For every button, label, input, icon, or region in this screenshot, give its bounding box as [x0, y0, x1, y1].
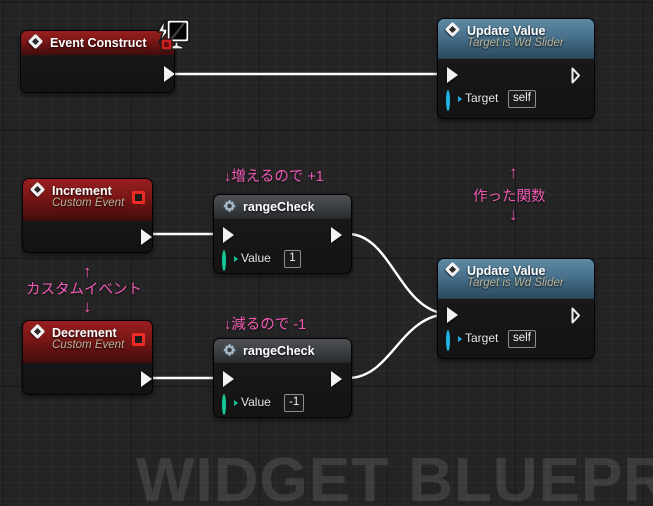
node-body: Value 1 [214, 219, 351, 273]
value-label: Value [241, 395, 271, 409]
node-title: rangeCheck [243, 200, 315, 214]
node-event-construct[interactable]: Event Construct [20, 30, 175, 93]
node-title: rangeCheck [243, 344, 315, 358]
node-header: Increment Custom Event [23, 179, 152, 221]
exec-out-pin[interactable] [164, 66, 175, 82]
node-title: Update Value [467, 24, 546, 38]
exec-out-pin[interactable] [571, 67, 584, 84]
gear-icon [222, 199, 237, 214]
node-header: Event Construct [21, 31, 174, 55]
stop-square-icon[interactable] [132, 333, 145, 346]
node-title: Decrement [52, 326, 117, 340]
node-header: rangeCheck [214, 195, 351, 219]
exec-out-pin[interactable] [331, 371, 342, 387]
node-header: rangeCheck [214, 339, 351, 363]
event-diamond-icon [446, 263, 461, 278]
exec-out-pin[interactable] [571, 307, 584, 324]
node-title: Update Value [467, 264, 546, 278]
event-diamond-icon [29, 35, 44, 50]
exec-out-pin[interactable] [331, 227, 342, 243]
event-diamond-icon [31, 183, 46, 198]
node-body [23, 363, 152, 395]
node-subtitle: Custom Event [52, 197, 142, 209]
value-input-pin[interactable] [222, 396, 235, 409]
annotation-made-function: 作った関数 [473, 185, 546, 206]
annotation-increase: ↓増えるので +1 [224, 165, 324, 186]
blueprint-graph-canvas[interactable]: WIDGET BLUEPRINT Event Construct [0, 0, 653, 506]
value-box[interactable]: -1 [284, 394, 304, 412]
target-value-box[interactable]: self [508, 330, 536, 348]
node-header: Decrement Custom Event [23, 321, 152, 363]
node-increment[interactable]: Increment Custom Event [22, 178, 153, 253]
exec-in-pin[interactable] [447, 67, 458, 83]
event-diamond-icon [446, 23, 461, 38]
graph-watermark: WIDGET BLUEPRINT [136, 450, 653, 506]
event-diamond-icon [31, 325, 46, 340]
node-header: Update Value Target is Wd Slider [438, 19, 594, 59]
wire-rangecheck-bottom-to-update [348, 314, 450, 378]
node-rangecheck-bottom[interactable]: rangeCheck Value -1 [213, 338, 352, 418]
node-body [23, 221, 152, 253]
target-value-box[interactable]: self [508, 90, 536, 108]
node-body: Target self [438, 299, 594, 359]
stop-square-icon[interactable] [132, 191, 145, 204]
node-subtitle: Custom Event [52, 339, 142, 351]
node-body: Target self [438, 59, 594, 119]
node-update-value-bottom[interactable]: Update Value Target is Wd Slider Target … [437, 258, 595, 359]
value-label: Value [241, 251, 271, 265]
wire-rangecheck-top-to-update [348, 234, 450, 314]
exec-in-pin[interactable] [223, 227, 234, 243]
node-rangecheck-top[interactable]: rangeCheck Value 1 [213, 194, 352, 274]
target-input-pin[interactable] [446, 92, 459, 105]
annotation-decrease: ↓減るので -1 [224, 313, 306, 334]
exec-out-pin[interactable] [141, 229, 152, 245]
exec-in-pin[interactable] [223, 371, 234, 387]
exec-out-pin[interactable] [141, 371, 152, 387]
node-subtitle: Target is Wd Slider [467, 277, 584, 289]
node-title: Increment [52, 184, 112, 198]
node-body: Value -1 [214, 363, 351, 417]
exec-in-pin[interactable] [447, 307, 458, 323]
target-label: Target [465, 331, 498, 345]
node-update-value-top[interactable]: Update Value Target is Wd Slider Target … [437, 18, 595, 119]
node-decrement[interactable]: Decrement Custom Event [22, 320, 153, 395]
node-header: Update Value Target is Wd Slider [438, 259, 594, 299]
value-input-pin[interactable] [222, 252, 235, 265]
annotation-made-function-arrow-up: ↑ [509, 163, 518, 183]
target-label: Target [465, 91, 498, 105]
annotation-custom-event-arrow-down: ↓ [83, 297, 92, 317]
annotation-made-function-arrow-down: ↓ [509, 205, 518, 225]
node-body [21, 55, 174, 93]
node-title: Event Construct [50, 36, 147, 50]
gear-icon [222, 343, 237, 358]
monitor-lightning-icon [153, 17, 191, 51]
value-box[interactable]: 1 [284, 250, 301, 268]
node-subtitle: Target is Wd Slider [467, 37, 584, 49]
target-input-pin[interactable] [446, 332, 459, 345]
annotation-custom-event: カスタムイベント [26, 278, 142, 299]
